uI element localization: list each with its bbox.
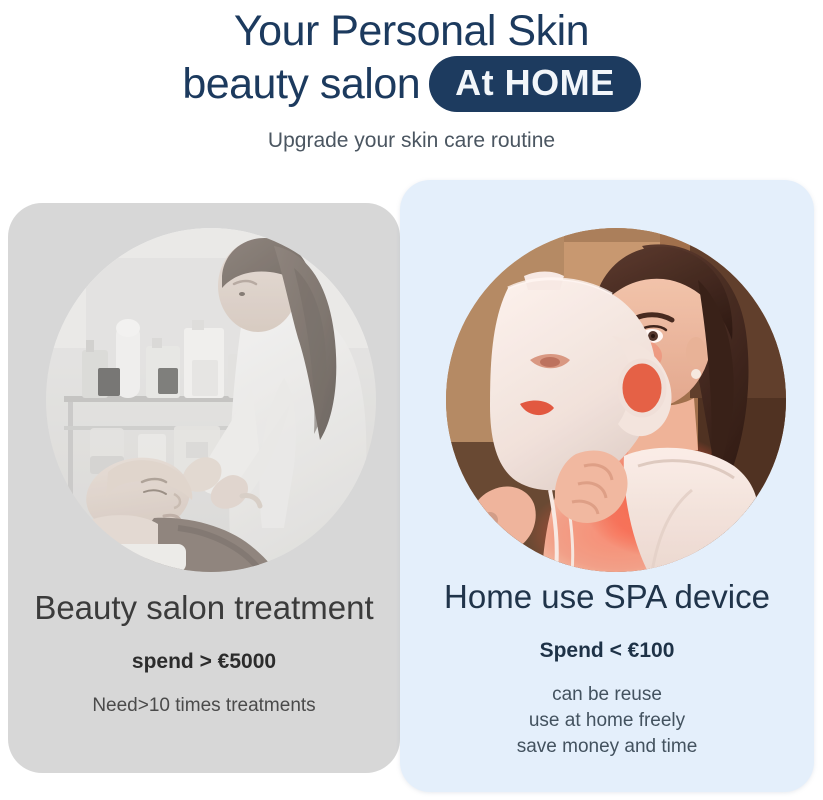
salon-note-line: Need>10 times treatments <box>18 693 390 719</box>
card-beauty-salon: Beauty salon treatment spend > €5000 Nee… <box>8 203 400 773</box>
salon-card-text: Beauty salon treatment spend > €5000 Nee… <box>8 589 400 719</box>
headline: Your Personal Skin beauty salon At HOME <box>0 6 823 112</box>
home-card-price: Spend < €100 <box>410 639 804 663</box>
promo-header: Your Personal Skin beauty salon At HOME … <box>0 0 823 153</box>
home-note-line: use at home freely <box>410 708 804 734</box>
salon-card-title: Beauty salon treatment <box>18 589 390 627</box>
home-card-notes: can be reuse use at home freely save mon… <box>410 682 804 760</box>
headline-line-2-text: beauty salon <box>182 59 420 109</box>
home-note-line: can be reuse <box>410 682 804 708</box>
subtitle: Upgrade your skin care routine <box>0 129 823 153</box>
headline-line-1: Your Personal Skin <box>0 6 823 56</box>
at-home-badge: At HOME <box>429 56 641 112</box>
salon-card-price: spend > €5000 <box>18 650 390 674</box>
home-card-title: Home use SPA device <box>410 578 804 616</box>
home-led-mask-photo <box>446 228 786 572</box>
salon-card-notes: Need>10 times treatments <box>18 693 390 719</box>
home-note-line: save money and time <box>410 734 804 760</box>
card-home-spa-device: Home use SPA device Spend < €100 can be … <box>400 180 814 792</box>
headline-line-2: beauty salon At HOME <box>0 56 823 112</box>
salon-treatment-photo <box>46 228 376 572</box>
home-card-text: Home use SPA device Spend < €100 can be … <box>400 578 814 760</box>
